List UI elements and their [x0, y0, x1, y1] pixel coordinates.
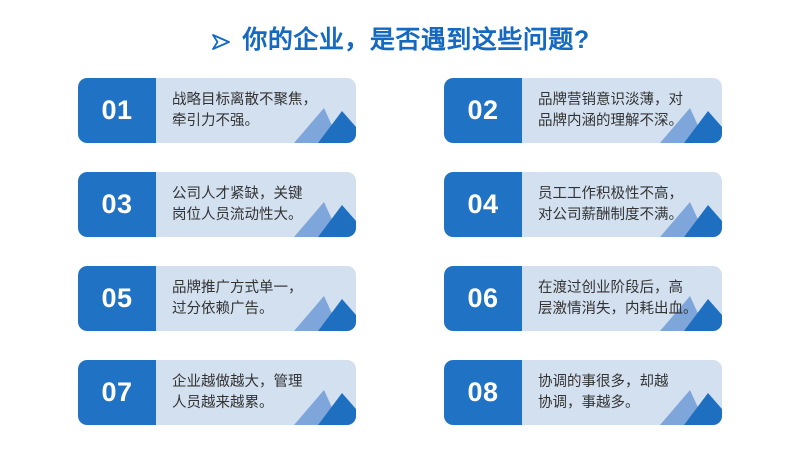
problem-card[interactable]: 04 员工工作积极性不高， 对公司薪酬制度不满。	[444, 172, 722, 237]
card-text-line: 公司人才紧缺，关键	[172, 184, 342, 205]
card-text-line: 品牌营销意识淡薄，对	[538, 90, 708, 111]
problem-card[interactable]: 01 战略目标离散不聚焦， 牵引力不强。	[78, 78, 356, 143]
card-text: 品牌营销意识淡薄，对 品牌内涵的理解不深。	[522, 78, 722, 143]
card-text-line: 企业越做越大，管理	[172, 372, 342, 393]
card-text: 战略目标离散不聚焦， 牵引力不强。	[156, 78, 356, 143]
card-text-line: 牵引力不强。	[172, 111, 342, 132]
card-text: 品牌推广方式单一， 过分依赖广告。	[156, 266, 356, 331]
card-number-badge: 02	[444, 78, 522, 143]
arrow-right-outline-icon	[210, 31, 232, 53]
card-text-line: 员工工作积极性不高，	[538, 184, 708, 205]
card-text: 在渡过创业阶段后，高 层激情消失，内耗出血。	[522, 266, 722, 331]
card-number-badge: 04	[444, 172, 522, 237]
card-number-badge: 01	[78, 78, 156, 143]
card-text-line: 协调，事越多。	[538, 393, 708, 414]
card-text: 员工工作积极性不高， 对公司薪酬制度不满。	[522, 172, 722, 237]
card-text: 企业越做越大，管理 人员越来越累。	[156, 360, 356, 425]
problem-card-grid: 01 战略目标离散不聚焦， 牵引力不强。 02 品牌营销意识淡薄，对 品牌内涵的…	[78, 78, 722, 426]
card-text-line: 人员越来越累。	[172, 393, 342, 414]
card-text: 公司人才紧缺，关键 岗位人员流动性大。	[156, 172, 356, 237]
problem-card[interactable]: 02 品牌营销意识淡薄，对 品牌内涵的理解不深。	[444, 78, 722, 143]
card-text: 协调的事很多，却越 协调，事越多。	[522, 360, 722, 425]
card-text-line: 品牌推广方式单一，	[172, 278, 342, 299]
card-text-line: 战略目标离散不聚焦，	[172, 90, 342, 111]
card-number-badge: 06	[444, 266, 522, 331]
card-text-line: 岗位人员流动性大。	[172, 205, 342, 226]
problem-card[interactable]: 05 品牌推广方式单一， 过分依赖广告。	[78, 266, 356, 331]
page-header: 你的企业，是否遇到这些问题?	[0, 20, 800, 60]
problem-card[interactable]: 03 公司人才紧缺，关键 岗位人员流动性大。	[78, 172, 356, 237]
card-text-line: 协调的事很多，却越	[538, 372, 708, 393]
card-text-line: 品牌内涵的理解不深。	[538, 111, 708, 132]
card-text-line: 在渡过创业阶段后，高	[538, 278, 708, 299]
card-number-badge: 03	[78, 172, 156, 237]
card-number-badge: 07	[78, 360, 156, 425]
card-text-line: 过分依赖广告。	[172, 299, 342, 320]
problem-card[interactable]: 08 协调的事很多，却越 协调，事越多。	[444, 360, 722, 425]
card-number-badge: 08	[444, 360, 522, 425]
card-text-line: 层激情消失，内耗出血。	[538, 299, 708, 320]
page-title: 你的企业，是否遇到这些问题?	[242, 28, 589, 53]
problem-card[interactable]: 07 企业越做越大，管理 人员越来越累。	[78, 360, 356, 425]
card-text-line: 对公司薪酬制度不满。	[538, 205, 708, 226]
card-number-badge: 05	[78, 266, 156, 331]
problem-card[interactable]: 06 在渡过创业阶段后，高 层激情消失，内耗出血。	[444, 266, 722, 331]
